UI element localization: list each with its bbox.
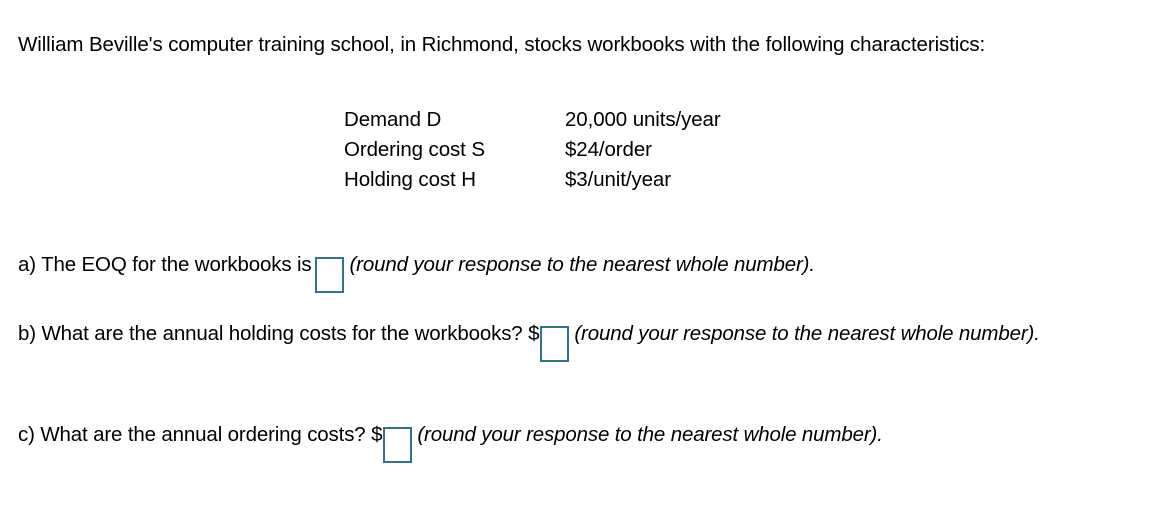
parameter-value-ordering-cost: $24/order xyxy=(565,135,721,165)
currency-symbol-c: $ xyxy=(371,423,382,446)
problem-page: William Beville's computer training scho… xyxy=(0,0,1166,520)
question-a-prompt: a) The EOQ for the workbooks is xyxy=(18,253,311,276)
parameter-label-holding-cost: Holding cost H xyxy=(344,165,565,195)
question-a: a) The EOQ for the workbooks is(round yo… xyxy=(18,246,1153,293)
table-row: Holding cost H $3/unit/year xyxy=(344,165,721,195)
parameters-table: Demand D 20,000 units/year Ordering cost… xyxy=(344,105,721,195)
table-row: Demand D 20,000 units/year xyxy=(344,105,721,135)
parameter-value-demand: 20,000 units/year xyxy=(565,105,721,135)
table-row: Ordering cost S $24/order xyxy=(344,135,721,165)
question-a-instruction: (round your response to the nearest whol… xyxy=(349,253,814,276)
parameter-label-demand: Demand D xyxy=(344,105,565,135)
question-c-prompt: c) What are the annual ordering costs? xyxy=(18,423,366,446)
parameter-label-ordering-cost: Ordering cost S xyxy=(344,135,565,165)
answer-input-b[interactable] xyxy=(540,326,569,362)
question-b-prompt: b) What are the annual holding costs for… xyxy=(18,322,523,345)
question-c: c) What are the annual ordering costs? $… xyxy=(18,416,1153,463)
answer-input-a[interactable] xyxy=(315,257,344,293)
problem-intro-text: William Beville's computer training scho… xyxy=(18,29,1108,60)
answer-input-c[interactable] xyxy=(383,427,412,463)
question-b: b) What are the annual holding costs for… xyxy=(18,315,1153,362)
parameter-value-holding-cost: $3/unit/year xyxy=(565,165,721,195)
currency-symbol-b: $ xyxy=(528,322,539,345)
question-b-instruction: (round your response to the nearest whol… xyxy=(574,322,1039,345)
question-c-instruction: (round your response to the nearest whol… xyxy=(417,423,882,446)
